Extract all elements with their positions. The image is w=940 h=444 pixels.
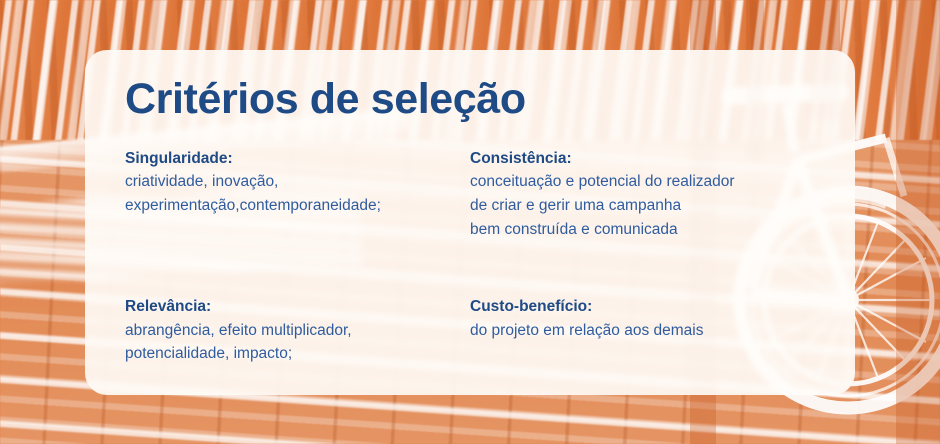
criterion-label: Custo-benefício: bbox=[470, 296, 825, 318]
criterion-custo-beneficio: Custo-benefício: do projeto em relação a… bbox=[470, 296, 825, 366]
criterion-body: criatividade, inovação, experimentação,c… bbox=[125, 170, 470, 217]
criteria-list: Singularidade: criatividade, inovação, e… bbox=[125, 148, 825, 366]
criterion-body: abrangência, efeito multiplicador, poten… bbox=[125, 319, 470, 366]
criterion-body: do projeto em relação aos demais bbox=[470, 319, 825, 343]
criterion-label: Consistência: bbox=[470, 148, 825, 170]
slide: Critérios de seleção Singularidade: cria… bbox=[0, 0, 940, 444]
content-card: Critérios de seleção Singularidade: cria… bbox=[85, 50, 855, 395]
criterion-label: Singularidade: bbox=[125, 148, 470, 170]
criterion-relevancia: Relevância: abrangência, efeito multipli… bbox=[125, 296, 470, 366]
criterion-body: conceituação e potencial do realizador d… bbox=[470, 170, 825, 241]
page-title: Critérios de seleção bbox=[125, 75, 526, 124]
criterion-label: Relevância: bbox=[125, 296, 470, 318]
criterion-singularidade: Singularidade: criatividade, inovação, e… bbox=[125, 148, 470, 241]
criterion-consistencia: Consistência: conceituação e potencial d… bbox=[470, 148, 825, 241]
